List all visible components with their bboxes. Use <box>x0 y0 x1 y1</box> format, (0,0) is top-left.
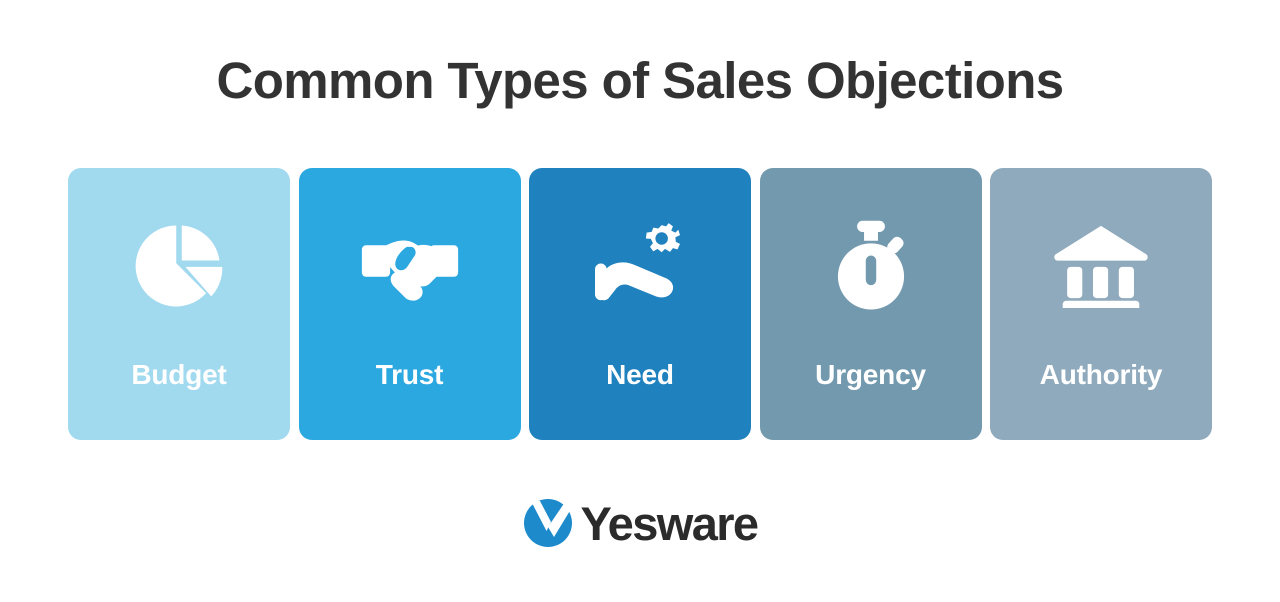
stopwatch-icon <box>760 168 982 364</box>
brand-name: Yesware <box>581 500 758 547</box>
card-label: Need <box>529 358 751 392</box>
objection-card-row: Budget Trust <box>68 168 1212 440</box>
card-authority[interactable]: Authority <box>990 168 1212 440</box>
card-budget[interactable]: Budget <box>68 168 290 440</box>
hand-holding-gear-icon <box>529 168 751 364</box>
card-need[interactable]: Need <box>529 168 751 440</box>
card-label: Authority <box>990 358 1212 392</box>
card-label: Trust <box>299 358 521 392</box>
handshake-icon <box>299 168 521 364</box>
card-trust[interactable]: Trust <box>299 168 521 440</box>
bank-building-icon <box>990 168 1212 364</box>
page-title: Common Types of Sales Objections <box>0 50 1280 111</box>
infographic-page: Common Types of Sales Objections Budget <box>0 0 1280 602</box>
card-label: Budget <box>68 358 290 392</box>
pie-chart-icon <box>68 168 290 364</box>
card-urgency[interactable]: Urgency <box>760 168 982 440</box>
logo-lockup: Yesware <box>523 498 758 548</box>
yesware-y-circle-icon <box>523 498 573 548</box>
footer-logo[interactable]: Yesware <box>0 492 1280 554</box>
card-label: Urgency <box>760 358 982 392</box>
